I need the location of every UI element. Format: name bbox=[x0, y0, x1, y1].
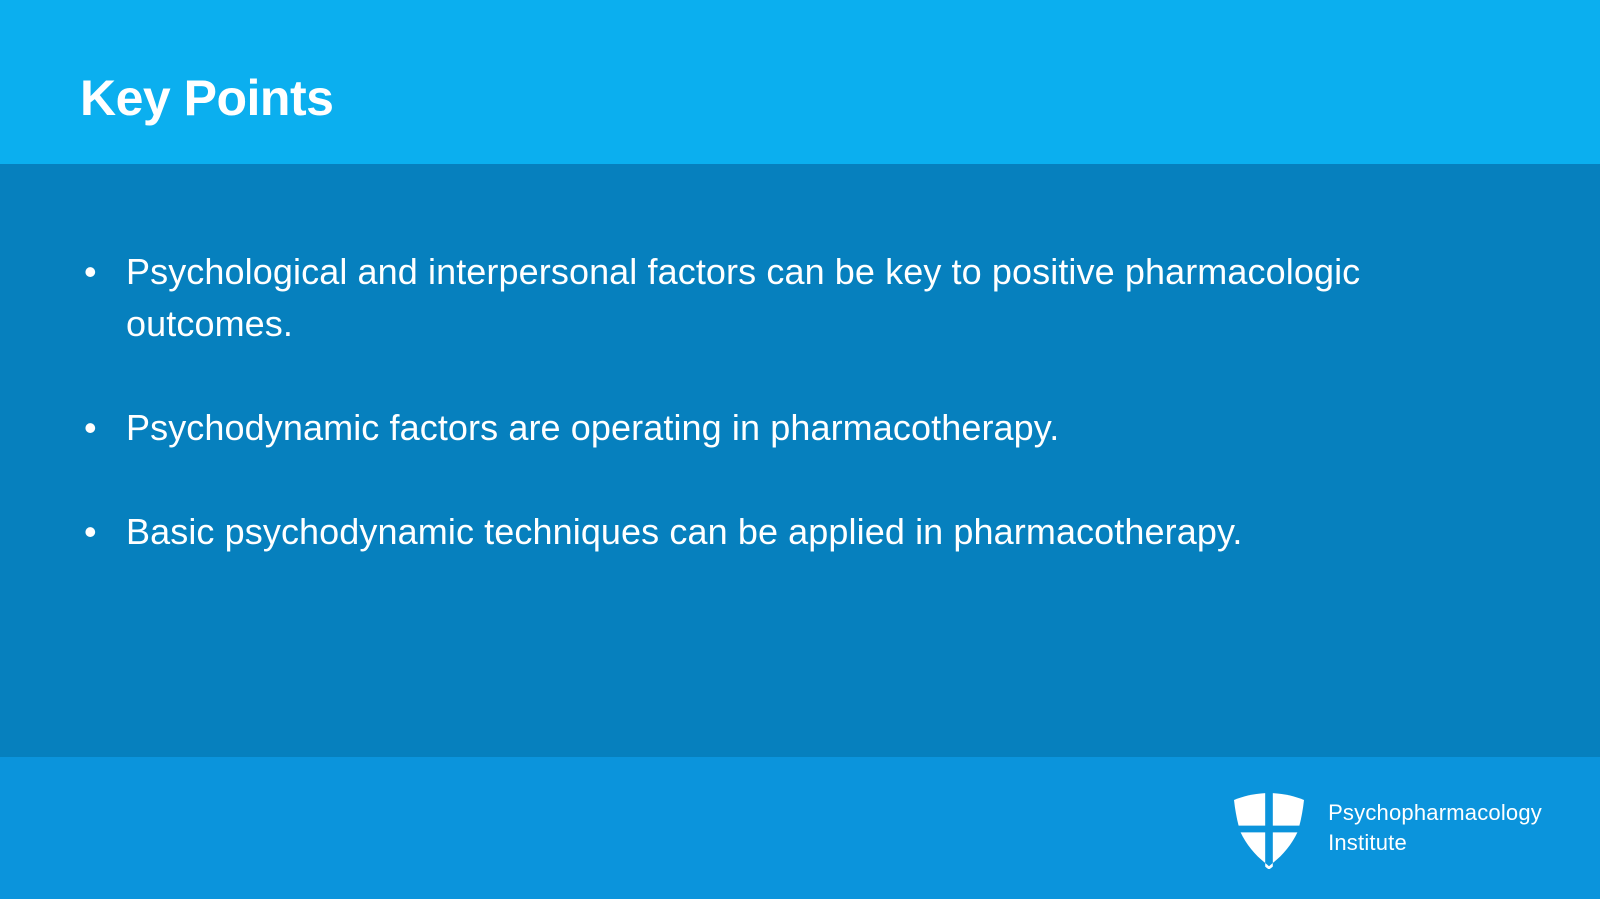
brand-logo: Psychopharmacology Institute bbox=[1232, 787, 1542, 869]
slide-body-band: • Psychological and interpersonal factor… bbox=[0, 164, 1600, 757]
brand-name-line1: Psychopharmacology bbox=[1328, 800, 1542, 825]
bullet-dot-icon: • bbox=[78, 506, 126, 558]
list-item-text: Psychological and interpersonal factors … bbox=[126, 246, 1510, 350]
list-item-text: Basic psychodynamic techniques can be ap… bbox=[126, 506, 1510, 558]
presentation-slide: Key Points • Psychological and interpers… bbox=[0, 0, 1600, 899]
list-item-text: Psychodynamic factors are operating in p… bbox=[126, 402, 1510, 454]
bullet-dot-icon: • bbox=[78, 402, 126, 454]
brand-wordmark: Psychopharmacology Institute bbox=[1328, 798, 1542, 857]
list-item: • Basic psychodynamic techniques can be … bbox=[78, 506, 1510, 558]
page-title: Key Points bbox=[80, 72, 333, 125]
list-item: • Psychological and interpersonal factor… bbox=[78, 246, 1510, 350]
slide-header-band: Key Points bbox=[0, 0, 1600, 164]
shield-cross-icon bbox=[1232, 787, 1306, 869]
key-points-list: • Psychological and interpersonal factor… bbox=[78, 246, 1510, 558]
brand-name-line2: Institute bbox=[1328, 828, 1542, 858]
slide-footer-band: Psychopharmacology Institute bbox=[0, 757, 1600, 899]
list-item: • Psychodynamic factors are operating in… bbox=[78, 402, 1510, 454]
bullet-dot-icon: • bbox=[78, 246, 126, 298]
